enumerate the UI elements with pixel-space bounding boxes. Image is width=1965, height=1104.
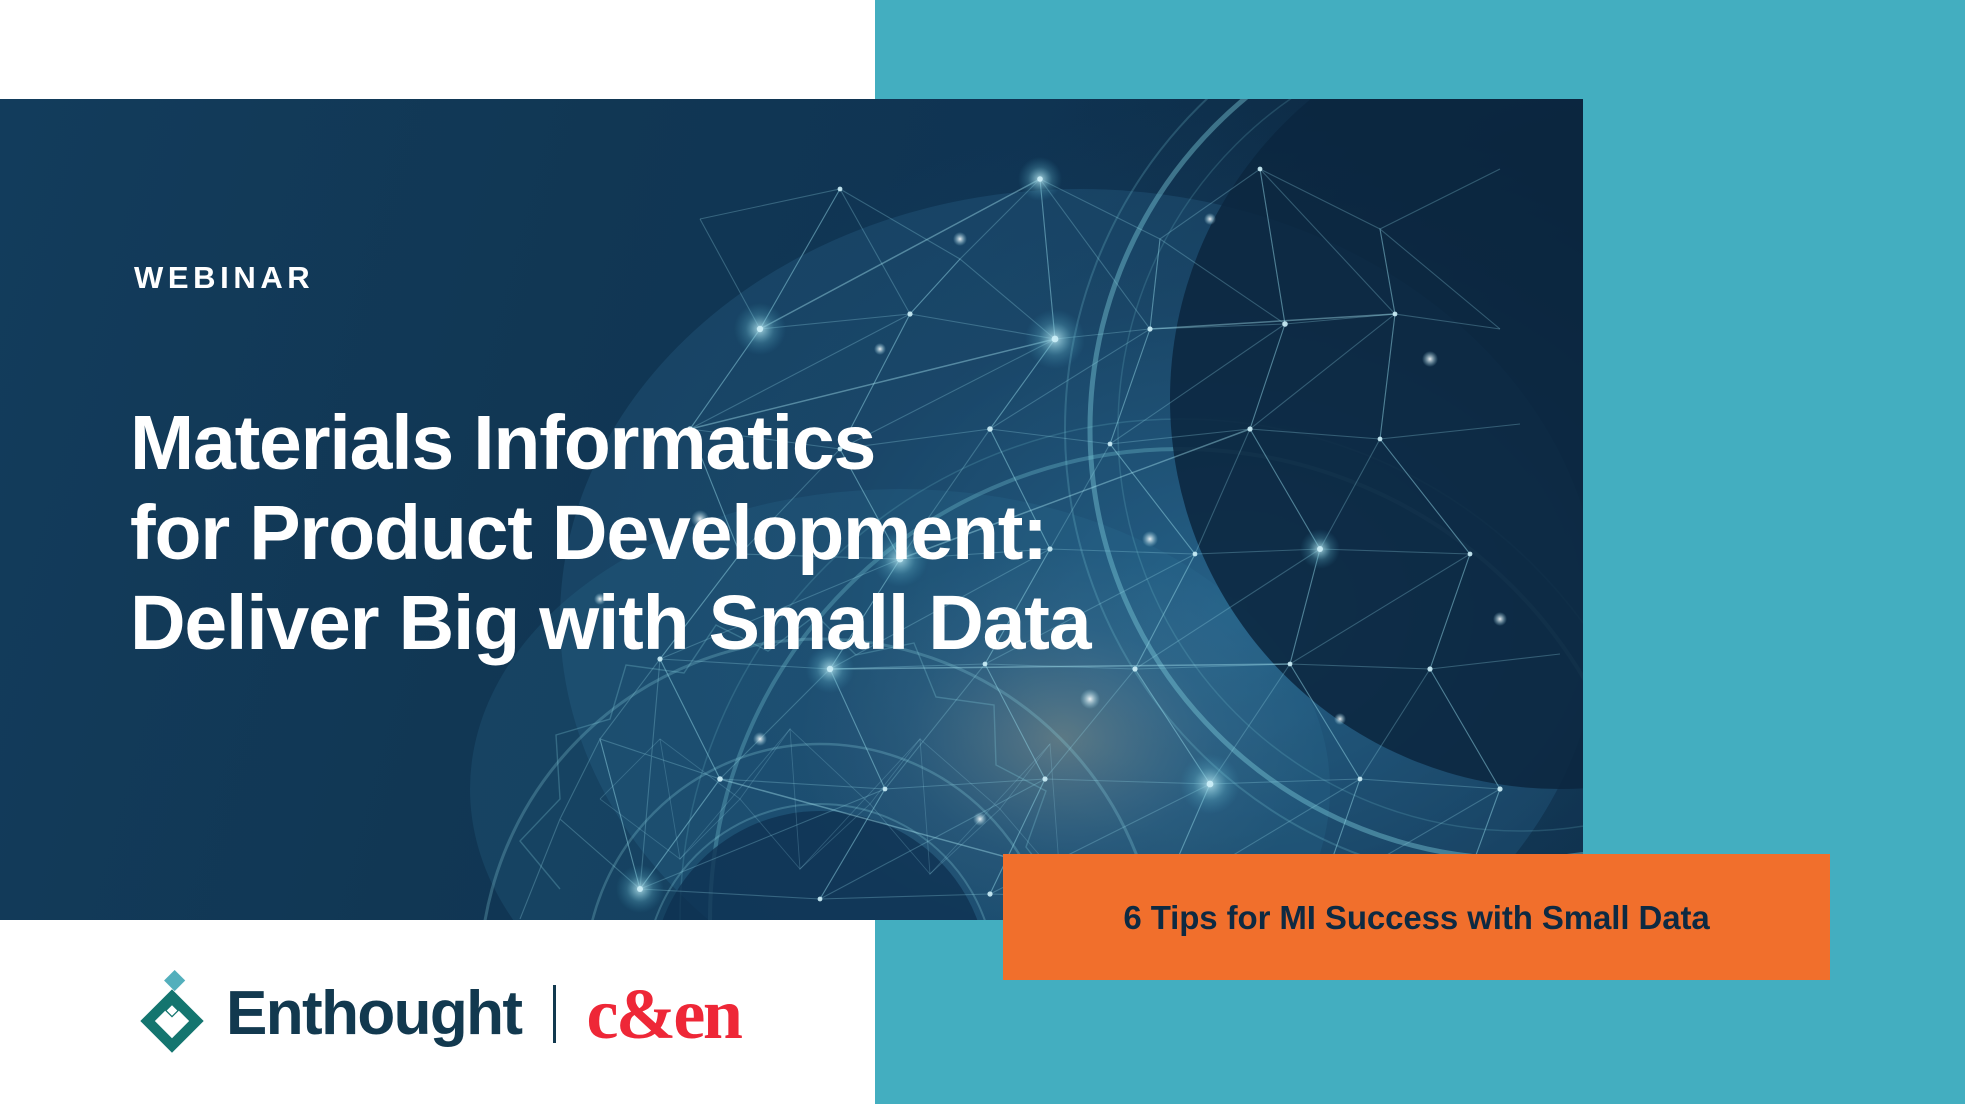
eyebrow-label: WEBINAR (134, 262, 314, 293)
highlight-banner-text: 6 Tips for MI Success with Small Data (1123, 901, 1709, 934)
page-title: Materials Informatics for Product Develo… (130, 398, 1430, 668)
highlight-banner: 6 Tips for MI Success with Small Data (1003, 854, 1830, 980)
lockup-divider (553, 985, 556, 1043)
enthought-wordmark: Enthought (226, 983, 521, 1045)
webinar-banner-canvas: WEBINAR Materials Informatics for Produc… (0, 0, 1965, 1104)
enthought-diamond-icon (128, 970, 216, 1058)
top-white-block (0, 0, 875, 100)
cen-wordmark: c&en (586, 978, 740, 1050)
logo-lockup: Enthought c&en (128, 968, 740, 1060)
